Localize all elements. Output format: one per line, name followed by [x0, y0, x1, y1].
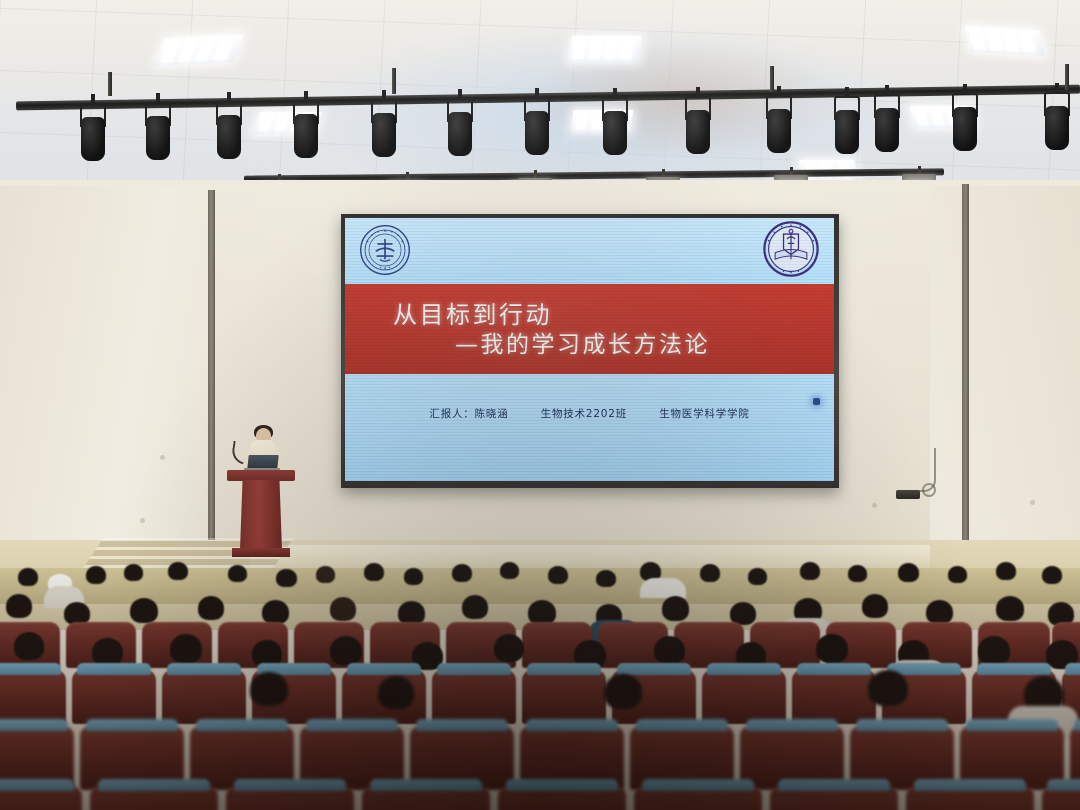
audience-head	[654, 636, 685, 664]
audience-head	[700, 564, 720, 582]
presentation-screen[interactable]: 从目标到行动 —我的学习成长方法论 汇报人：陈晓涵 生物技术2202班 生物医学…	[345, 218, 834, 481]
wall-column-right	[962, 184, 969, 566]
audience-head	[596, 570, 616, 587]
audience-head	[92, 638, 123, 666]
audience-head	[330, 597, 356, 621]
right-wall	[930, 186, 1080, 581]
truss-drop-rod	[1065, 64, 1069, 90]
wall-blemish	[160, 455, 165, 460]
university-seal-logo	[359, 224, 411, 276]
ceiling-panel	[568, 36, 642, 62]
audience-head	[604, 674, 642, 709]
audience-head	[868, 670, 908, 706]
audience-head	[898, 563, 919, 582]
presenter-class: 生物技术2202班	[541, 408, 627, 420]
auditorium-seat	[1042, 786, 1080, 810]
auditorium-seat	[90, 786, 218, 810]
audience-head	[168, 562, 188, 580]
stage-par-light	[1042, 92, 1072, 152]
audience-head	[6, 594, 32, 618]
audience-head	[948, 566, 967, 583]
audience-head	[1042, 566, 1062, 584]
lectern-podium	[232, 470, 290, 560]
wall-blemish	[140, 518, 145, 523]
biomedical-college-emblem	[763, 221, 819, 277]
auditorium-seat	[770, 786, 898, 810]
audience-head	[662, 596, 689, 621]
truss-drop-rod	[770, 66, 774, 92]
audience-head	[494, 634, 524, 662]
left-wall	[0, 186, 212, 581]
audience-head	[170, 634, 202, 663]
audience-head	[462, 595, 488, 619]
audience-head	[404, 568, 423, 585]
slide-body-area	[345, 374, 834, 481]
slide-title-line-1: 从目标到行动	[345, 300, 834, 330]
auditorium-seat	[0, 786, 82, 810]
auditorium-seat	[634, 786, 762, 810]
auditorium-seat	[72, 670, 156, 724]
ceiling-panel	[964, 26, 1045, 56]
auditorium-seat	[906, 786, 1034, 810]
audience-head	[378, 676, 414, 709]
audience-head	[262, 600, 289, 624]
stage-par-light	[872, 94, 902, 154]
cable-loop	[922, 483, 936, 497]
audience-head	[452, 564, 472, 582]
audience-head	[130, 598, 158, 623]
stage-par-light	[445, 98, 475, 158]
slide-title-block: 从目标到行动 —我的学习成长方法论	[345, 288, 834, 372]
stage-par-light	[600, 97, 630, 157]
slide-header-band	[345, 218, 834, 284]
auditorium-seat	[0, 670, 66, 724]
stage-par-light	[143, 102, 173, 162]
stage-par-light	[214, 101, 244, 161]
audience-head	[862, 594, 888, 618]
auditorium-seat	[498, 786, 626, 810]
audience-head	[848, 565, 867, 582]
audience-head	[926, 600, 953, 624]
stage-par-light	[950, 93, 980, 153]
stage-par-light	[291, 100, 321, 160]
auditorium-photo: 从目标到行动 —我的学习成长方法论 汇报人：陈晓涵 生物技术2202班 生物医学…	[0, 0, 1080, 810]
audience-head	[86, 566, 106, 584]
auditorium-seat	[432, 670, 516, 724]
wall-blemish	[872, 503, 877, 508]
power-outlet	[896, 490, 920, 499]
audience-head	[250, 672, 288, 706]
auditorium-seat	[792, 670, 876, 724]
audience-seating-area	[0, 560, 1080, 810]
audience-head	[124, 564, 143, 581]
audience-head	[276, 569, 297, 587]
wall-blemish	[1030, 500, 1035, 505]
stage-par-light	[522, 97, 552, 157]
auditorium-seat	[674, 622, 744, 668]
audience-head	[748, 568, 767, 585]
auditorium-seat	[162, 670, 246, 724]
audience-head	[228, 565, 247, 582]
auditorium-seat	[522, 670, 606, 724]
audience-head	[996, 596, 1024, 621]
stage-par-light	[369, 99, 399, 159]
slide-title-line-2: —我的学习成长方法论	[345, 330, 834, 360]
audience-head	[816, 634, 848, 663]
stage-par-light	[683, 96, 713, 156]
audience-head	[800, 562, 820, 580]
audience-head	[978, 636, 1010, 665]
presenter-college: 生物医学科学学院	[659, 408, 749, 420]
audience-head	[548, 566, 568, 584]
audience-shoulders	[640, 578, 686, 598]
auditorium-seat	[226, 786, 354, 810]
slide-presenter-info: 汇报人：陈晓涵 生物技术2202班 生物医学科学学院	[345, 406, 834, 421]
audience-head	[500, 562, 519, 579]
truss-drop-rod	[392, 68, 396, 94]
stage-par-light	[764, 95, 794, 155]
ceiling-panel	[154, 34, 244, 66]
audience-head	[18, 568, 38, 586]
auditorium-seat	[362, 786, 490, 810]
auditorium-seat	[702, 670, 786, 724]
audience-head	[996, 562, 1016, 580]
truss-drop-rod	[108, 72, 112, 96]
wall-column-left	[208, 190, 215, 568]
audience-head	[14, 632, 44, 660]
audience-head	[198, 596, 224, 620]
presenter-name: 汇报人：陈晓涵	[429, 408, 508, 420]
audience-head	[330, 636, 362, 665]
center-hanging-fixture	[832, 96, 862, 156]
audience-head	[364, 563, 384, 581]
stage-par-light	[78, 103, 108, 163]
audience-head	[316, 566, 335, 583]
screen-pixel-artifact	[813, 398, 820, 405]
